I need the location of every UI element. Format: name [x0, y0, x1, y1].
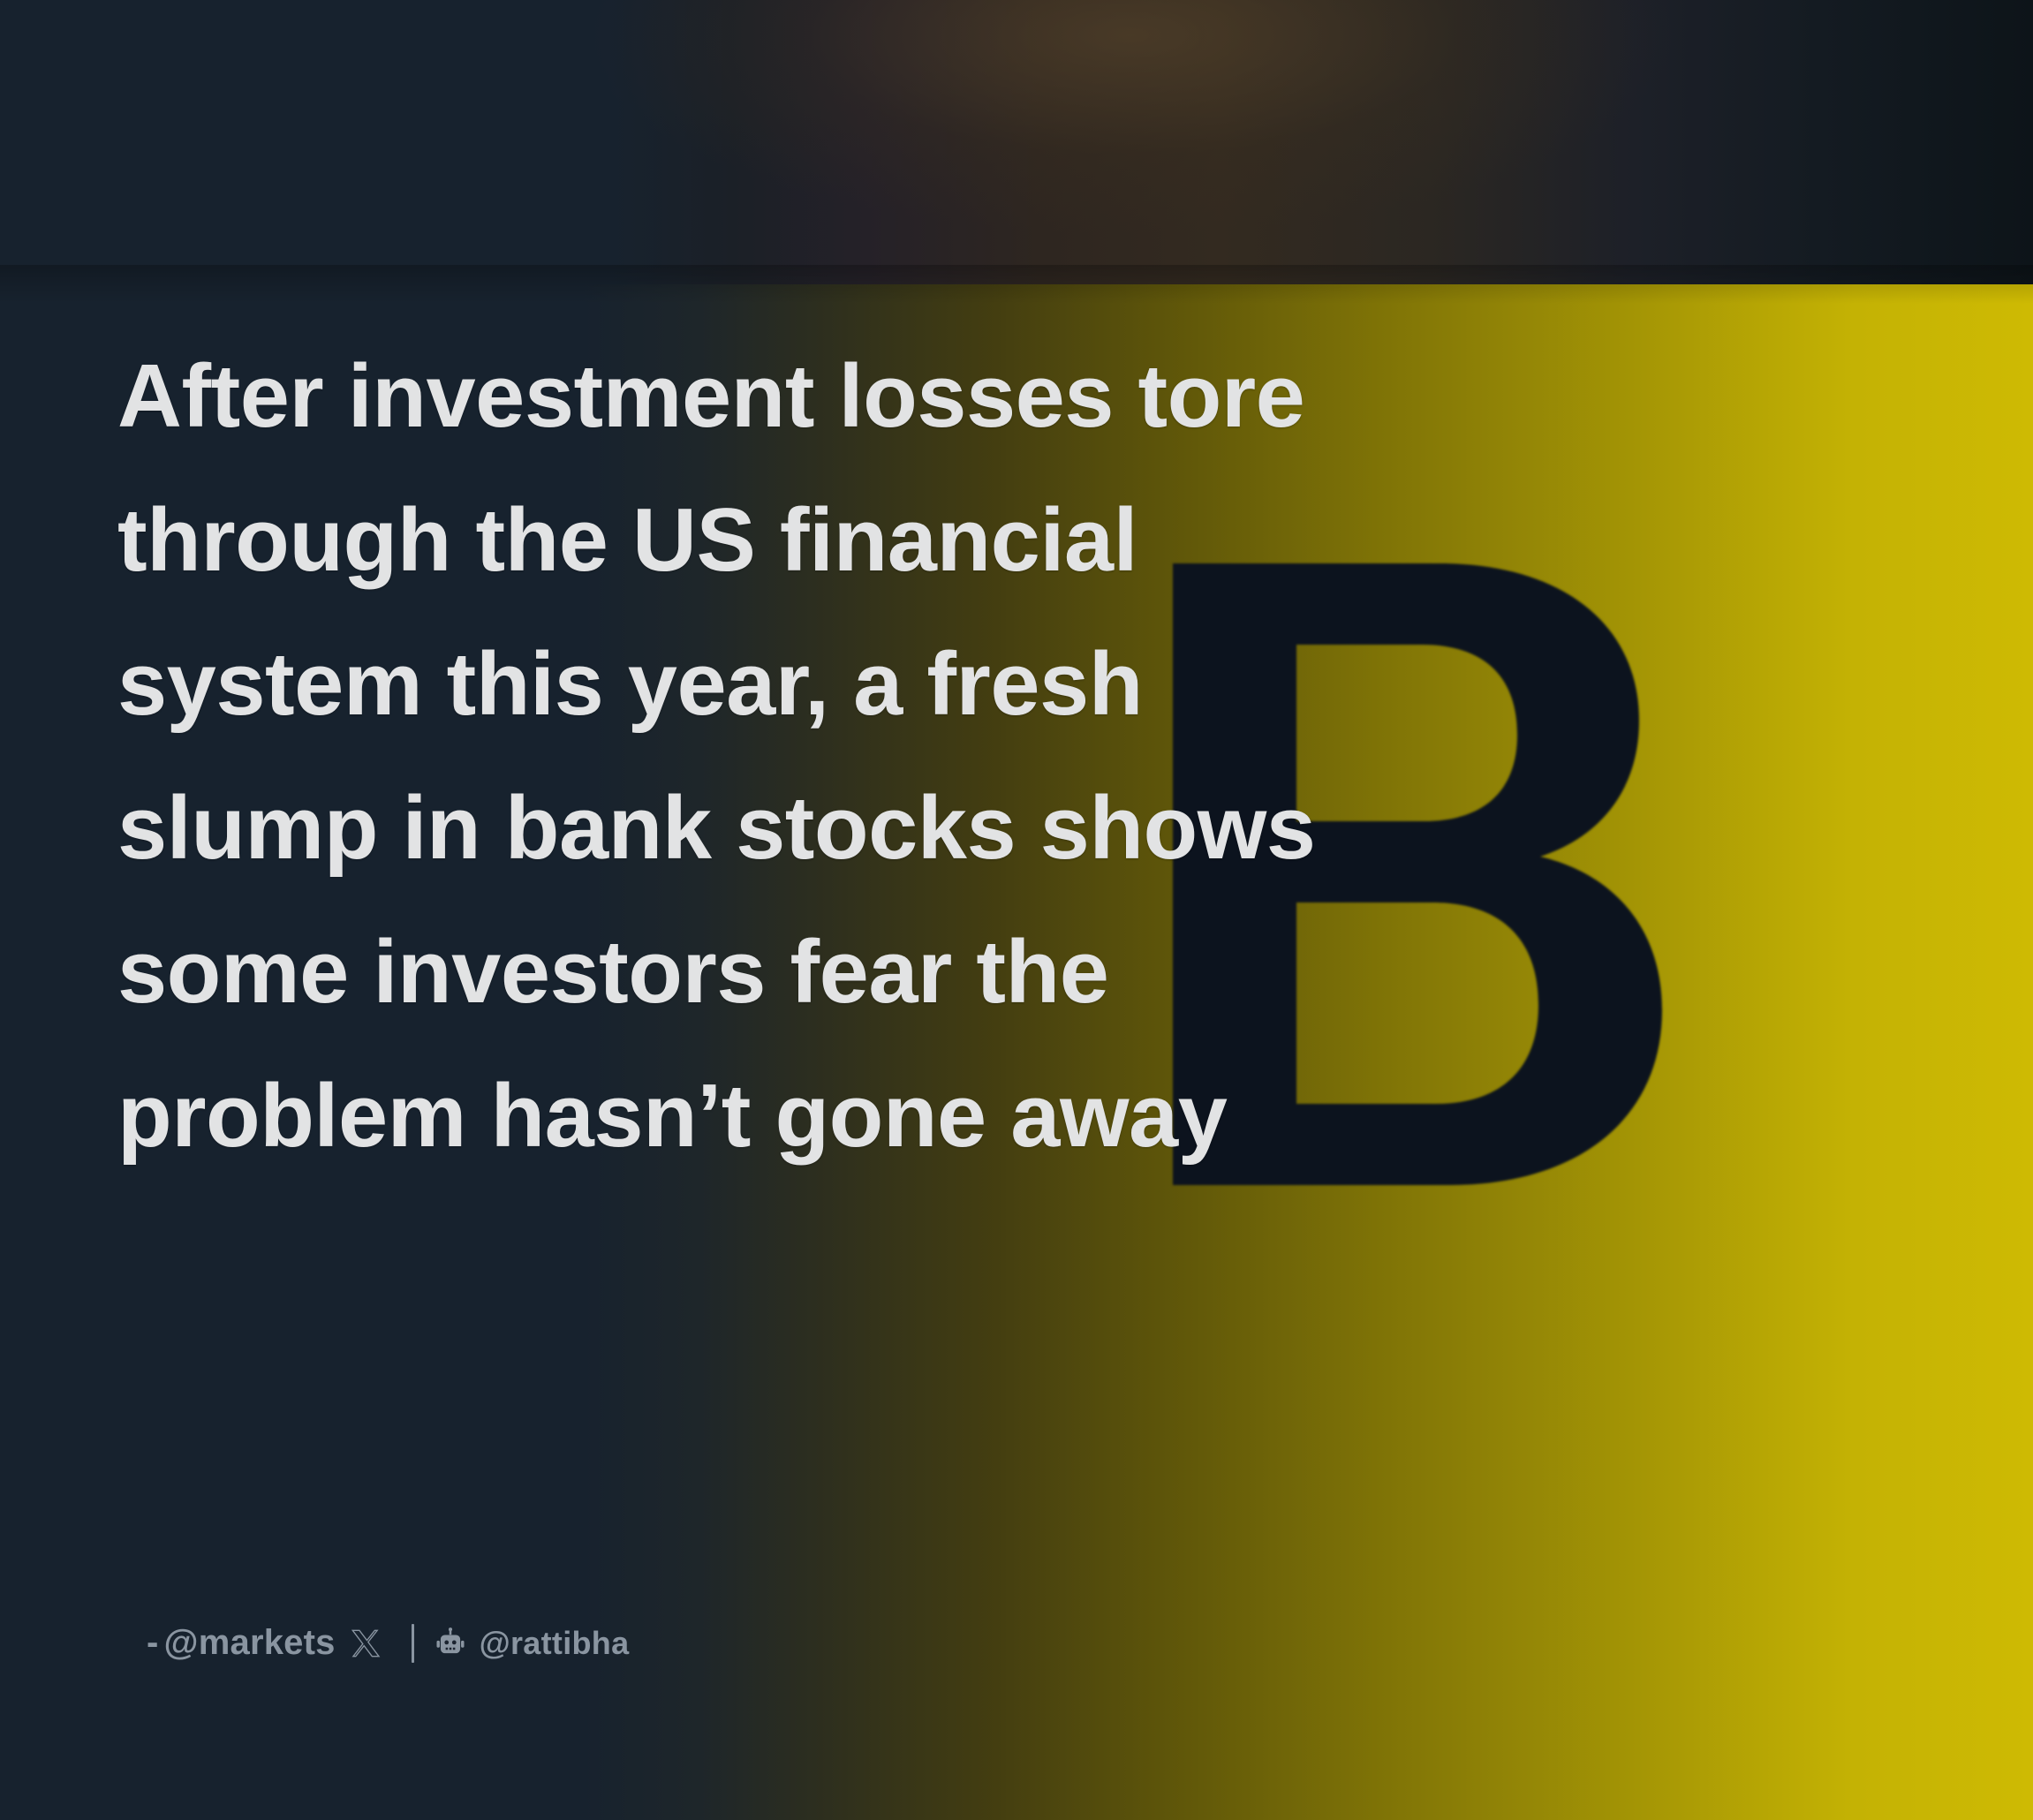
headline-text: After investment losses tore through the… — [117, 325, 1372, 1189]
background-top-dark-band — [0, 0, 2033, 284]
credit-publisher-handle[interactable]: @rattibha — [480, 1625, 630, 1662]
x-logo-icon[interactable] — [350, 1627, 382, 1659]
quote-card: After investment losses tore through the… — [0, 0, 2033, 1820]
credit-separator — [412, 1624, 414, 1663]
credit-source-handle[interactable]: @markets — [164, 1623, 336, 1663]
credit-attribution: - @markets @rattibha — [147, 1623, 629, 1663]
robot-icon — [434, 1627, 467, 1660]
credit-dash: - — [147, 1623, 159, 1663]
